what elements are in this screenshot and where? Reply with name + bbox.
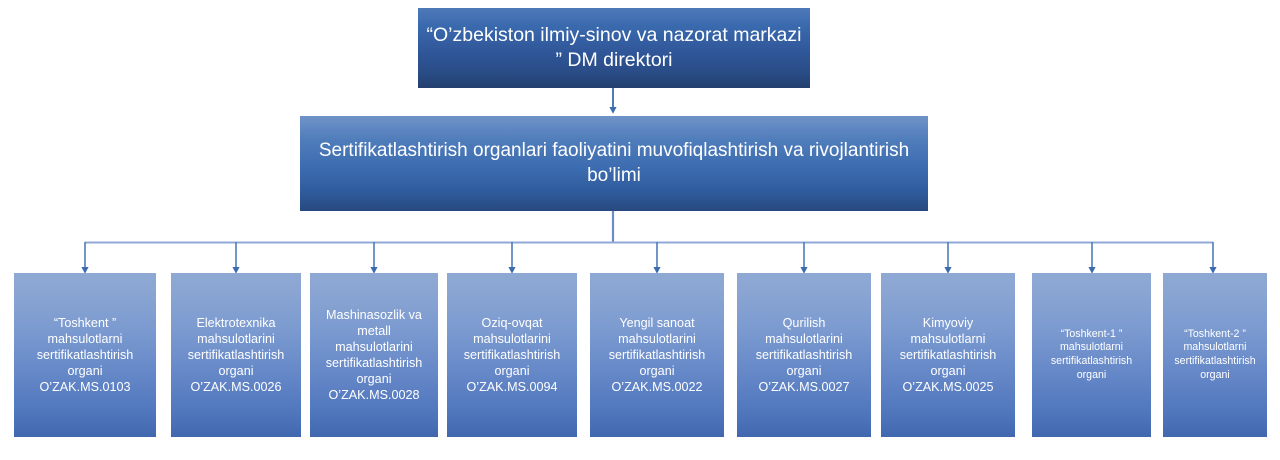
node-certification-body-2-label: Elektrotexnika mahsulotlarini sertifikat… [177,315,295,396]
node-certification-body-1-label: “Toshkent ” mahsulotlarni sertifikatlash… [20,315,150,396]
org-chart: “O’zbekiston ilmiy-sinov va nazorat mark… [0,0,1280,460]
node-certification-body-4[interactable]: Oziq-ovqat mahsulotlarini sertifikatlash… [447,273,577,437]
node-certification-body-3-label: Mashinasozlik va metall mahsulotlarini s… [316,307,432,404]
node-certification-body-9[interactable]: “Toshkent-2 ” mahsulotlarni sertifikatla… [1163,273,1267,437]
node-certification-body-6-label: Qurilish mahsulotlarini sertifikatlashti… [743,315,865,396]
node-certification-body-5-label: Yengil sanoat mahsulotlarini sertifikatl… [596,315,718,396]
node-department-label: Sertifikatlashtirish organlari faoliyati… [306,139,922,188]
node-certification-body-5[interactable]: Yengil sanoat mahsulotlarini sertifikatl… [590,273,724,437]
node-certification-body-7-label: Kimyoviy mahsulotlarni sertifikatlashtir… [887,315,1009,396]
node-certification-body-1[interactable]: “Toshkent ” mahsulotlarni sertifikatlash… [14,273,156,437]
node-director-label: “O’zbekiston ilmiy-sinov va nazorat mark… [424,23,804,73]
node-certification-body-2[interactable]: Elektrotexnika mahsulotlarini sertifikat… [171,273,301,437]
node-department[interactable]: Sertifikatlashtirish organlari faoliyati… [300,116,928,211]
node-certification-body-8-label: “Toshkent-1 ” mahsulotlarni sertifikatla… [1038,328,1145,382]
node-certification-body-3[interactable]: Mashinasozlik va metall mahsulotlarini s… [310,273,438,437]
node-certification-body-9-label: “Toshkent-2 ” mahsulotlarni sertifikatla… [1169,328,1261,382]
node-certification-body-7[interactable]: Kimyoviy mahsulotlarni sertifikatlashtir… [881,273,1015,437]
node-certification-body-6[interactable]: Qurilish mahsulotlarini sertifikatlashti… [737,273,871,437]
node-director[interactable]: “O’zbekiston ilmiy-sinov va nazorat mark… [418,8,810,88]
node-certification-body-4-label: Oziq-ovqat mahsulotlarini sertifikatlash… [453,315,571,396]
node-certification-body-8[interactable]: “Toshkent-1 ” mahsulotlarni sertifikatla… [1032,273,1151,437]
